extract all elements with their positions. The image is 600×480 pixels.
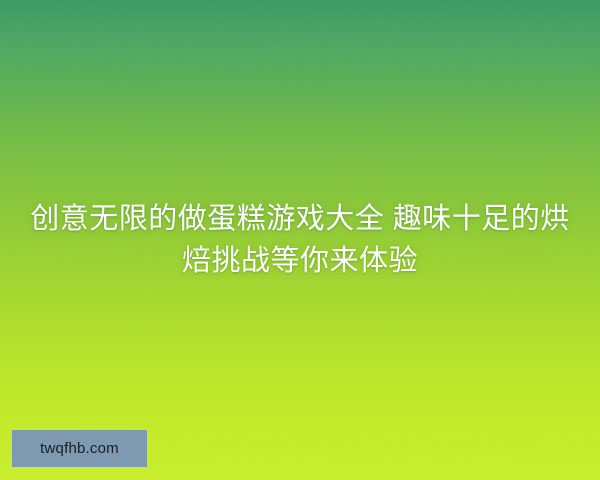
watermark-badge[interactable]: twqfhb.com xyxy=(12,430,147,467)
watermark-label: twqfhb.com xyxy=(40,441,119,456)
headline-text: 创意无限的做蛋糕游戏大全 趣味十足的烘焙挑战等你来体验 xyxy=(30,198,570,282)
banner-canvas: 创意无限的做蛋糕游戏大全 趣味十足的烘焙挑战等你来体验 twqfhb.com xyxy=(0,0,600,480)
headline-container: 创意无限的做蛋糕游戏大全 趣味十足的烘焙挑战等你来体验 xyxy=(0,0,600,480)
